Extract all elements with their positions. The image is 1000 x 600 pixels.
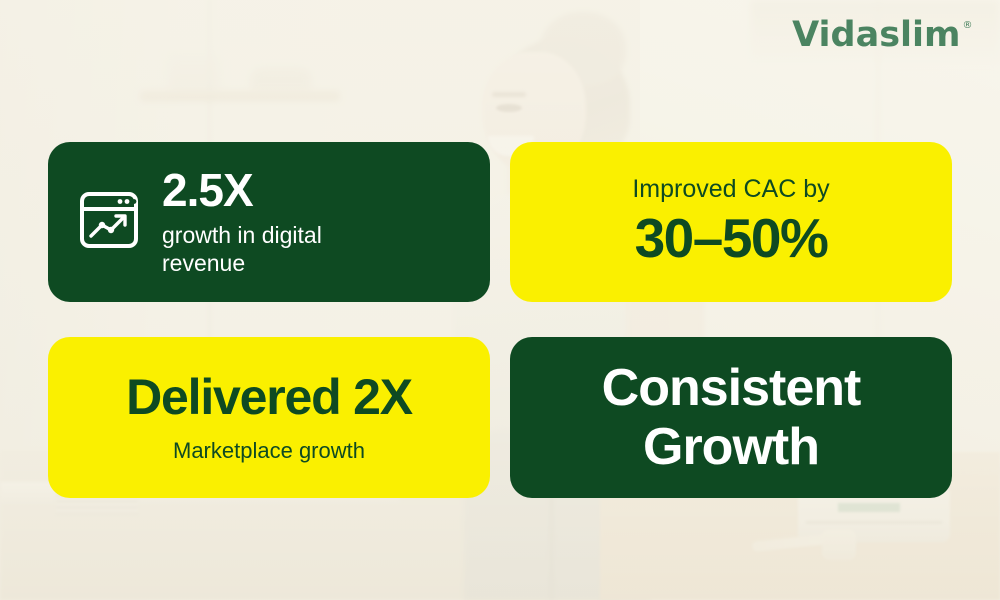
registered-trademark-icon: ® [963,20,973,31]
consistent-growth-line-1: Consistent [602,359,861,417]
cac-value: 30–50% [635,209,828,268]
stats-card-grid: 2.5X growth in digital revenue Improved … [48,142,952,498]
card-cac-improvement: Improved CAC by 30–50% [510,142,952,302]
brand-logo-text: Vidaslim [792,18,960,53]
metric-body: 2.5X growth in digital revenue [162,167,392,277]
card-consistent-growth: Consistent Growth [510,337,952,498]
browser-chart-icon [78,189,140,256]
card-digital-revenue: 2.5X growth in digital revenue [48,142,490,302]
marketplace-value: Delivered 2X [126,371,412,424]
cac-intro-text: Improved CAC by [632,176,829,204]
brand-logo: Vidaslim ® [792,18,972,53]
metric-label: growth in digital revenue [162,221,392,277]
marketplace-label: Marketplace growth [173,438,365,464]
promo-graphic: Vidaslim ® 2.5X growt [0,0,1000,600]
metric-value: 2.5X [162,167,392,214]
card-marketplace-growth: Delivered 2X Marketplace growth [48,337,490,498]
consistent-growth-line-2: Growth [643,418,819,476]
